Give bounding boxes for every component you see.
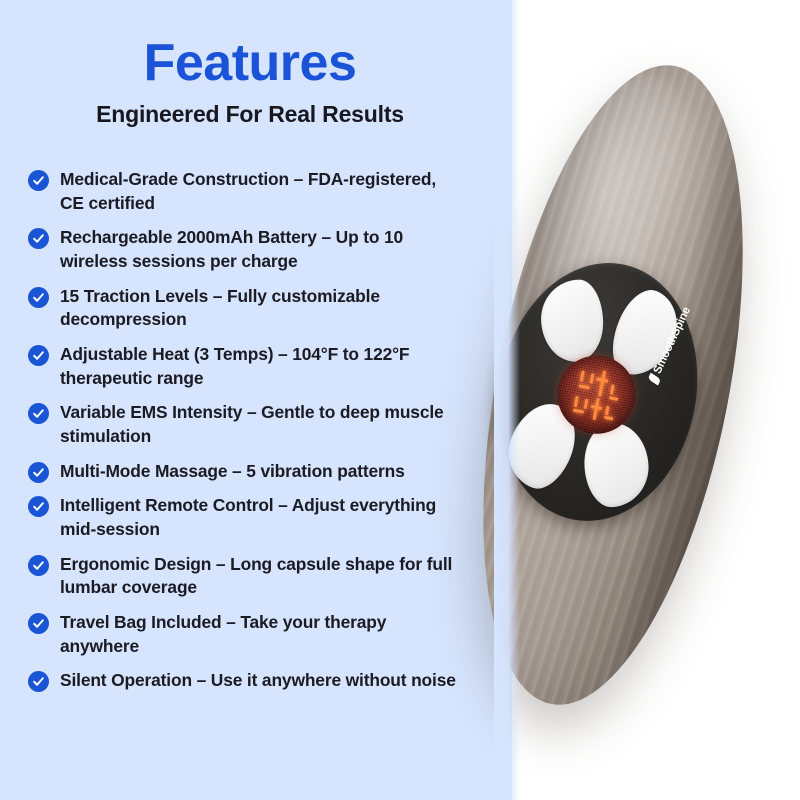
list-item: Variable EMS Intensity – Gentle to deep … [28, 401, 478, 448]
list-item: Intelligent Remote Control – Adjust ever… [28, 494, 478, 541]
check-circle-icon [28, 170, 49, 191]
feature-text: Adjustable Heat (3 Temps) – 104°F to 122… [60, 343, 460, 390]
feature-text: Multi-Mode Massage – 5 vibration pattern… [60, 460, 405, 484]
check-circle-icon [28, 228, 49, 249]
features-page: Features Engineered For Real Results Med… [0, 0, 800, 800]
feature-text: Intelligent Remote Control – Adjust ever… [60, 494, 460, 541]
list-item: 15 Traction Levels – Fully customizable … [28, 285, 478, 332]
led-pixel-grid [551, 349, 642, 440]
feature-text: Variable EMS Intensity – Gentle to deep … [60, 401, 460, 448]
page-title: Features [0, 36, 500, 91]
check-circle-icon [28, 462, 49, 483]
list-item: Travel Bag Included – Take your therapy … [28, 611, 478, 658]
feature-text: Medical-Grade Construction – FDA-registe… [60, 168, 460, 215]
feature-text: Silent Operation – Use it anywhere witho… [60, 669, 456, 693]
list-item: Adjustable Heat (3 Temps) – 104°F to 122… [28, 343, 478, 390]
check-circle-icon [28, 345, 49, 366]
list-item: Silent Operation – Use it anywhere witho… [28, 669, 478, 693]
led-display [551, 349, 642, 440]
check-circle-icon [28, 496, 49, 517]
list-item: Ergonomic Design – Long capsule shape fo… [28, 553, 478, 600]
list-item: Rechargeable 2000mAh Battery – Up to 10 … [28, 226, 478, 273]
feature-text: Rechargeable 2000mAh Battery – Up to 10 … [60, 226, 460, 273]
feature-list: Medical-Grade Construction – FDA-registe… [28, 168, 478, 704]
check-circle-icon [28, 403, 49, 424]
page-subtitle: Engineered For Real Results [0, 101, 500, 128]
check-circle-icon [28, 555, 49, 576]
heading-block: Features Engineered For Real Results [0, 36, 500, 128]
product-image: SmoothSpine [470, 0, 800, 800]
feature-text: Ergonomic Design – Long capsule shape fo… [60, 553, 460, 600]
feature-text: 15 Traction Levels – Fully customizable … [60, 285, 460, 332]
feature-text: Travel Bag Included – Take your therapy … [60, 611, 460, 658]
check-circle-icon [28, 671, 49, 692]
check-circle-icon [28, 613, 49, 634]
list-item: Multi-Mode Massage – 5 vibration pattern… [28, 460, 478, 484]
list-item: Medical-Grade Construction – FDA-registe… [28, 168, 478, 215]
check-circle-icon [28, 287, 49, 308]
